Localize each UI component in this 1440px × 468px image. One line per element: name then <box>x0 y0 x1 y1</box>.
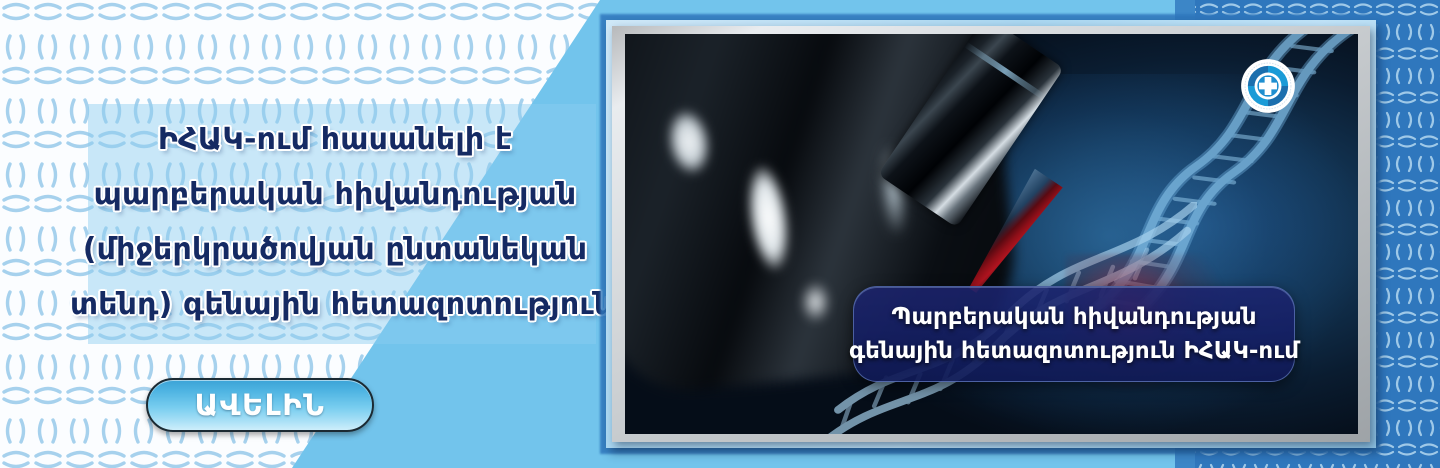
microscope-highlight-3 <box>801 282 830 322</box>
read-more-button-label: ԱՎԵԼԻՆ <box>195 388 326 422</box>
read-more-button[interactable]: ԱՎԵԼԻՆ <box>146 378 374 432</box>
photo-caption: Պարբերական հիվանդության գենային հետազոտո… <box>853 286 1295 382</box>
headline-line-4: տենդ) գենային հետազոտություն <box>70 277 600 332</box>
hero-photo: Պարբերական հիվանդության գենային հետազոտո… <box>625 34 1358 434</box>
promo-banner: ԻՀԱԿ-ում հասանելի է պարբերական հիվանդութ… <box>0 0 1440 468</box>
medical-cross-logo-icon <box>1240 58 1296 114</box>
headline-line-3: (միջերկրածովյան ընտանեկան <box>70 222 600 277</box>
headline-line-2: պարբերական հիվանդության <box>70 167 600 222</box>
logo <box>1240 58 1296 114</box>
page-title: ԻՀԱԿ-ում հասանելի է պարբերական հիվանդութ… <box>70 112 600 332</box>
headline-line-1: ԻՀԱԿ-ում հասանելի է <box>70 112 600 167</box>
caption-line-2: գենային հետազոտություն ԻՀԱԿ-ում <box>849 334 1299 368</box>
caption-line-1: Պարբերական հիվանդության <box>892 300 1257 334</box>
